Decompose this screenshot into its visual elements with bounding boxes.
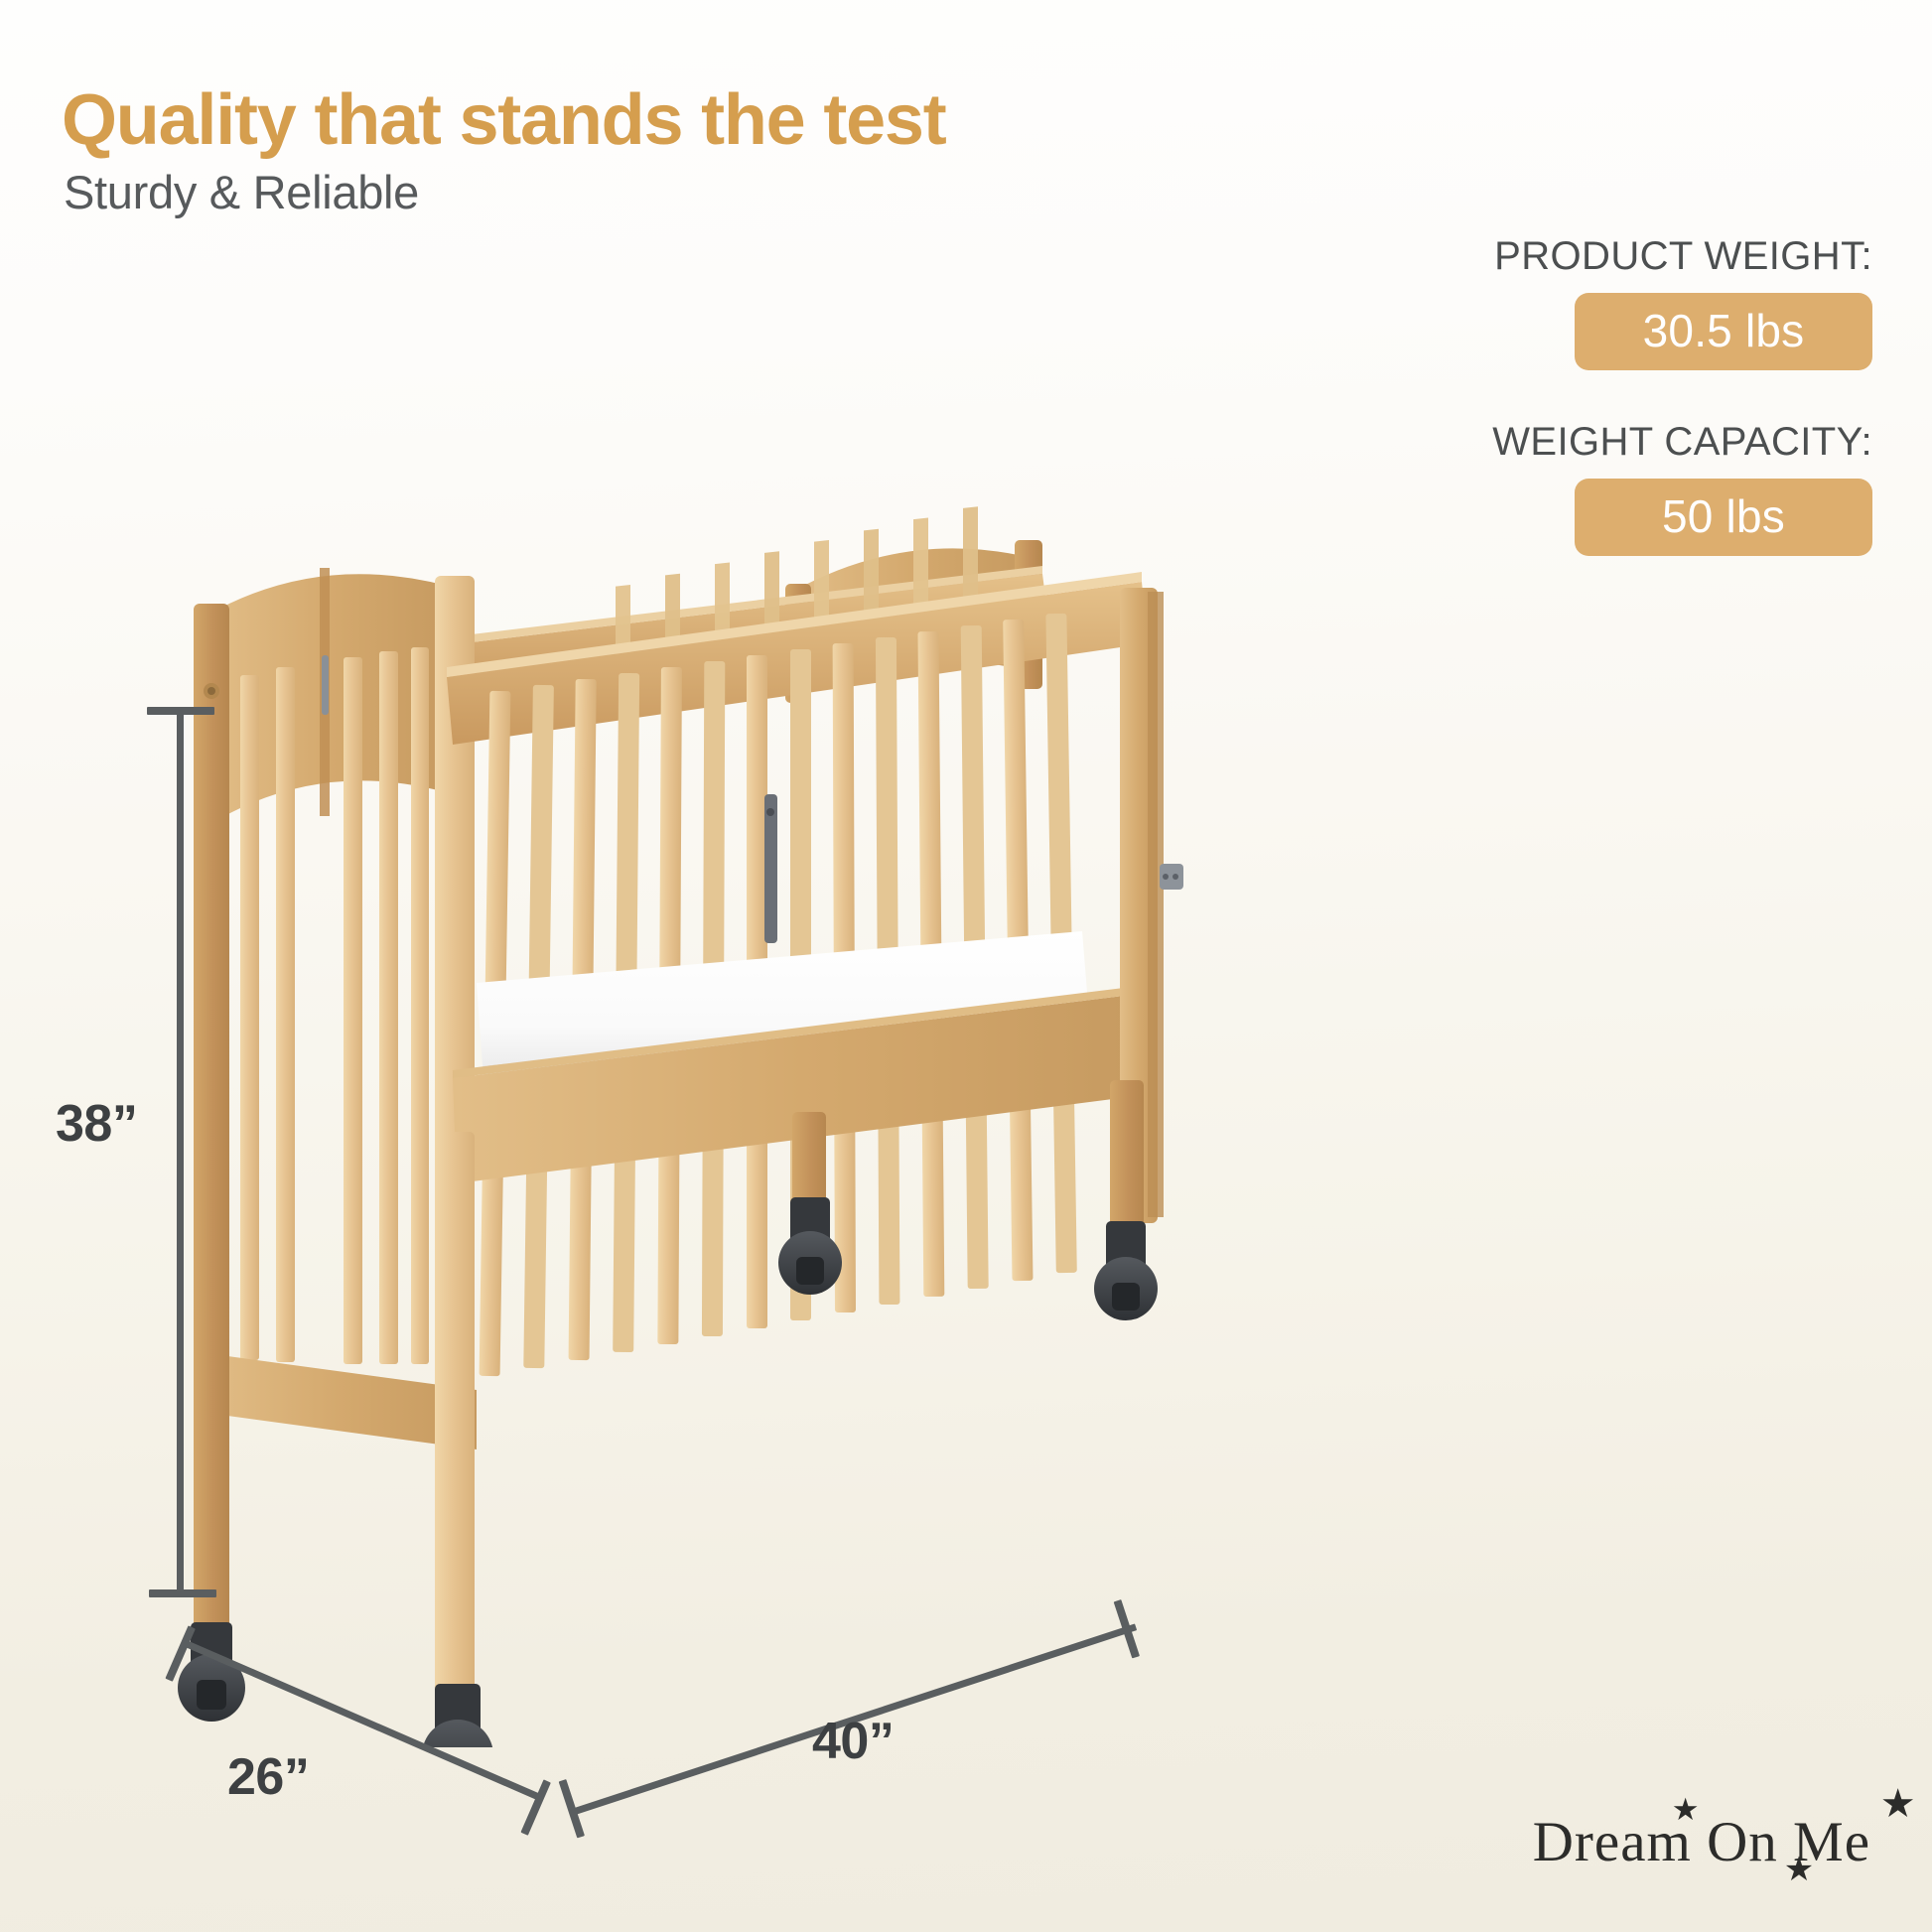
weight-capacity-badge: 50 lbs [1575, 479, 1872, 556]
height-dimension-cap-top [147, 707, 214, 715]
crib-left-end-panel [194, 568, 475, 1628]
page-subtitle: Sturdy & Reliable [64, 167, 957, 218]
star-icon: ★ [1672, 1794, 1701, 1825]
crib-hinge-bracket [764, 794, 777, 943]
height-dimension-line [177, 711, 184, 1596]
infographic-canvas: Quality that stands the test Sturdy & Re… [0, 0, 1932, 1932]
spec-group: PRODUCT WEIGHT: 30.5 lbs WEIGHT CAPACITY… [1356, 234, 1872, 556]
depth-dimension-label: 26” [227, 1747, 309, 1807]
product-image-crib [149, 496, 1291, 1747]
height-dimension-cap-bottom [149, 1589, 216, 1597]
height-dimension-label: 38” [56, 1094, 137, 1154]
product-weight-badge: 30.5 lbs [1575, 293, 1872, 370]
page-title: Quality that stands the test [62, 83, 1303, 158]
star-icon: ★ [1880, 1784, 1917, 1824]
brand-logo-text: Dream On Me [1533, 1811, 1870, 1873]
brand-logo: Dream On Me ★ ★ ★ [1533, 1810, 1870, 1874]
width-dimension-label: 40” [812, 1712, 894, 1771]
star-icon: ★ [1784, 1854, 1815, 1887]
weight-capacity-label: WEIGHT CAPACITY: [1492, 420, 1872, 465]
product-weight-label: PRODUCT WEIGHT: [1494, 234, 1872, 279]
